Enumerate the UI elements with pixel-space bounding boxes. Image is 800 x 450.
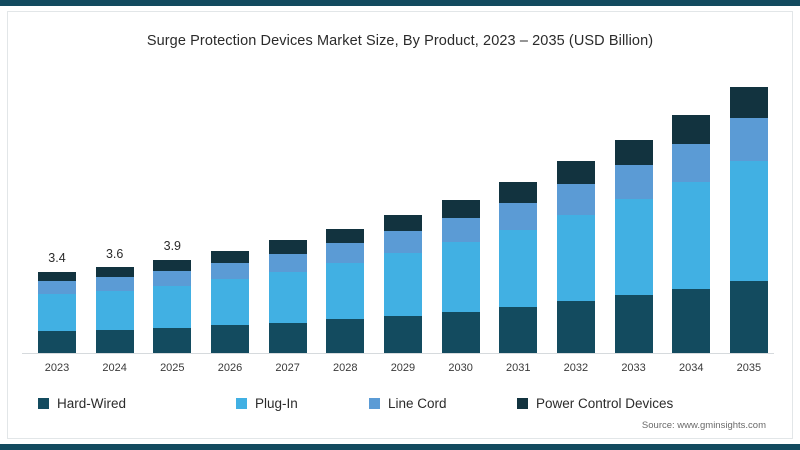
bar-segment[interactable] bbox=[153, 260, 191, 271]
bar-column[interactable]: 3.6 bbox=[96, 70, 134, 353]
bar-segment[interactable] bbox=[615, 199, 653, 295]
bar-segment[interactable] bbox=[442, 218, 480, 242]
x-axis-tick-2028: 2028 bbox=[326, 362, 364, 374]
bar-segment[interactable] bbox=[730, 161, 768, 281]
bar-stack[interactable] bbox=[499, 182, 537, 353]
bar-segment[interactable] bbox=[326, 243, 364, 263]
x-axis-labels: 2023202420252026202720282029203020312032… bbox=[38, 362, 768, 374]
chart-page: Surge Protection Devices Market Size, By… bbox=[0, 0, 800, 450]
bar-stack[interactable] bbox=[384, 215, 422, 353]
bar-segment[interactable] bbox=[38, 281, 76, 294]
bar-value-label: 3.9 bbox=[164, 239, 181, 253]
bar-segment[interactable] bbox=[38, 294, 76, 331]
bar-column[interactable] bbox=[211, 70, 249, 353]
x-axis-tick-2030: 2030 bbox=[442, 362, 480, 374]
bar-stack[interactable] bbox=[326, 229, 364, 353]
bar-segment[interactable] bbox=[384, 253, 422, 315]
bar-segment[interactable] bbox=[211, 263, 249, 279]
bar-segment[interactable] bbox=[442, 312, 480, 353]
x-axis-tick-2035: 2035 bbox=[730, 362, 768, 374]
legend-item[interactable]: Line Cord bbox=[369, 396, 517, 411]
bar-column[interactable]: 3.9 bbox=[153, 70, 191, 353]
bar-segment[interactable] bbox=[38, 272, 76, 282]
bar-segment[interactable] bbox=[153, 271, 191, 286]
bar-column[interactable] bbox=[672, 70, 710, 353]
source-attribution: Source: www.gminsights.com bbox=[642, 420, 766, 431]
bar-segment[interactable] bbox=[615, 295, 653, 353]
bar-segment[interactable] bbox=[499, 203, 537, 230]
bar-segment[interactable] bbox=[96, 330, 134, 353]
legend-swatch-icon bbox=[236, 398, 247, 409]
bar-segment[interactable] bbox=[269, 254, 307, 272]
bar-stack[interactable] bbox=[730, 87, 768, 353]
bar-segment[interactable] bbox=[442, 200, 480, 218]
bar-segment[interactable] bbox=[557, 184, 595, 215]
bar-segment[interactable] bbox=[672, 115, 710, 144]
bar-segment[interactable] bbox=[96, 267, 134, 277]
bar-stack[interactable] bbox=[153, 259, 191, 353]
bar-segment[interactable] bbox=[499, 182, 537, 202]
legend-swatch-icon bbox=[38, 398, 49, 409]
bar-segment[interactable] bbox=[269, 240, 307, 253]
bar-segment[interactable] bbox=[730, 281, 768, 353]
bar-segment[interactable] bbox=[557, 161, 595, 184]
x-axis-tick-2027: 2027 bbox=[269, 362, 307, 374]
bar-column[interactable] bbox=[557, 70, 595, 353]
bar-column[interactable] bbox=[384, 70, 422, 353]
x-axis-tick-2034: 2034 bbox=[672, 362, 710, 374]
x-axis-tick-2031: 2031 bbox=[499, 362, 537, 374]
bar-segment[interactable] bbox=[557, 215, 595, 301]
bar-segment[interactable] bbox=[96, 291, 134, 330]
bar-segment[interactable] bbox=[442, 242, 480, 311]
bottom-accent-bar bbox=[0, 444, 800, 450]
bar-stack[interactable] bbox=[442, 200, 480, 353]
bar-segment[interactable] bbox=[730, 118, 768, 160]
bar-segment[interactable] bbox=[499, 307, 537, 353]
bar-stack[interactable] bbox=[96, 267, 134, 353]
bar-column[interactable] bbox=[326, 70, 364, 353]
bar-stack[interactable] bbox=[557, 161, 595, 353]
bar-segment[interactable] bbox=[269, 323, 307, 353]
bar-value-label: 3.6 bbox=[106, 247, 123, 261]
bar-segment[interactable] bbox=[499, 230, 537, 307]
legend-item[interactable]: Power Control Devices bbox=[517, 396, 673, 411]
bar-segment[interactable] bbox=[672, 182, 710, 289]
x-axis-tick-2026: 2026 bbox=[211, 362, 249, 374]
bar-column[interactable] bbox=[615, 70, 653, 353]
chart-title: Surge Protection Devices Market Size, By… bbox=[0, 33, 800, 49]
x-axis-tick-2023: 2023 bbox=[38, 362, 76, 374]
x-axis-tick-2029: 2029 bbox=[384, 362, 422, 374]
legend-item[interactable]: Hard-Wired bbox=[38, 396, 236, 411]
chart-legend: Hard-WiredPlug-InLine CordPower Control … bbox=[38, 396, 768, 411]
bar-segment[interactable] bbox=[672, 144, 710, 182]
x-axis-tick-2025: 2025 bbox=[153, 362, 191, 374]
bar-segment[interactable] bbox=[153, 286, 191, 328]
legend-label: Line Cord bbox=[388, 396, 447, 411]
bar-segment[interactable] bbox=[326, 319, 364, 353]
legend-label: Plug-In bbox=[255, 396, 298, 411]
bar-value-label: 3.4 bbox=[48, 251, 65, 265]
legend-label: Power Control Devices bbox=[536, 396, 673, 411]
bar-stack[interactable] bbox=[615, 140, 653, 353]
legend-swatch-icon bbox=[517, 398, 528, 409]
bar-segment[interactable] bbox=[269, 272, 307, 323]
bar-segment[interactable] bbox=[211, 279, 249, 325]
bar-column[interactable] bbox=[499, 70, 537, 353]
bar-segment[interactable] bbox=[557, 301, 595, 353]
x-axis-tick-2033: 2033 bbox=[615, 362, 653, 374]
bar-segment[interactable] bbox=[326, 229, 364, 244]
top-accent-bar bbox=[0, 0, 800, 6]
bar-segment[interactable] bbox=[211, 251, 249, 263]
bar-segment[interactable] bbox=[615, 165, 653, 199]
bar-segment[interactable] bbox=[730, 87, 768, 119]
bar-segment[interactable] bbox=[384, 215, 422, 232]
bar-column[interactable] bbox=[442, 70, 480, 353]
bar-segment[interactable] bbox=[326, 263, 364, 319]
bar-segment[interactable] bbox=[38, 331, 76, 353]
bar-segment[interactable] bbox=[615, 140, 653, 166]
legend-swatch-icon bbox=[369, 398, 380, 409]
bar-segment[interactable] bbox=[153, 328, 191, 353]
bar-segment[interactable] bbox=[211, 325, 249, 353]
bar-column[interactable]: 3.4 bbox=[38, 70, 76, 353]
bar-series-group: 3.43.63.9 bbox=[38, 70, 768, 353]
legend-item[interactable]: Plug-In bbox=[236, 396, 369, 411]
bar-segment[interactable] bbox=[672, 289, 710, 353]
x-axis-baseline bbox=[22, 353, 774, 354]
x-axis-tick-2024: 2024 bbox=[96, 362, 134, 374]
bar-stack[interactable] bbox=[211, 251, 249, 353]
bar-stack[interactable] bbox=[38, 271, 76, 353]
bar-stack[interactable] bbox=[269, 240, 307, 353]
bar-segment[interactable] bbox=[384, 316, 422, 353]
legend-label: Hard-Wired bbox=[57, 396, 126, 411]
bar-column[interactable] bbox=[269, 70, 307, 353]
bar-stack[interactable] bbox=[672, 115, 710, 353]
x-axis-tick-2032: 2032 bbox=[557, 362, 595, 374]
bar-segment[interactable] bbox=[96, 277, 134, 291]
bar-segment[interactable] bbox=[384, 231, 422, 253]
bar-column[interactable] bbox=[730, 70, 768, 353]
